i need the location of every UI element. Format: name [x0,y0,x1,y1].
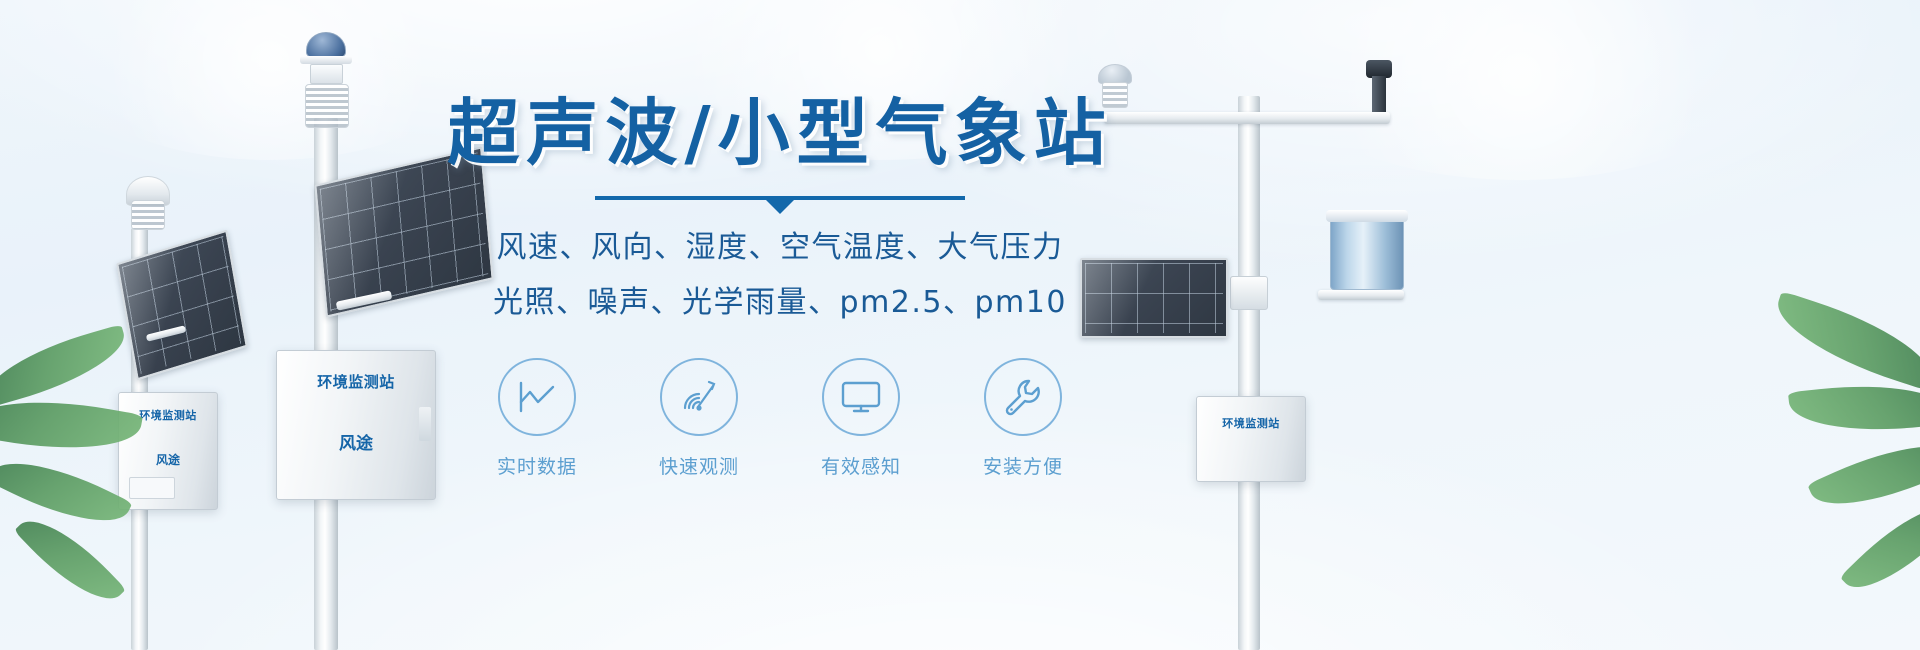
sensor-dome [306,32,346,58]
cross-arm [1104,112,1390,124]
page-title: 超声波/小型气象站 [430,96,1130,172]
mast-pole [1238,96,1260,650]
sensor-collar [300,56,352,64]
feature-item-easy-installation[interactable]: 安装方便 [953,358,1093,479]
feature-icon-circle [498,358,576,436]
optical-rain-gauge [1330,216,1404,290]
rain-gauge-rim [1326,210,1408,222]
cabinet-label-right: 环境监测站 [1197,415,1305,431]
cloud-decoration [60,0,480,160]
title-divider [595,196,965,200]
feature-label: 有效感知 [791,452,931,479]
feature-label: 安装方便 [953,452,1093,479]
feature-label: 实时数据 [467,452,607,479]
equipment-cabinet-left: 环境监测站 风途 [118,392,218,510]
chevron-down-icon [766,200,794,214]
equipment-cabinet-middle: 环境监测站 风途 [276,350,436,500]
leaf [1766,291,1920,391]
brand-mark-left: 风途 [119,451,217,468]
cloud-decoration [1280,0,1760,180]
cabinet-vent [129,477,175,499]
cross-arm-lower [1318,290,1404,300]
leaf [0,324,133,408]
feature-icon-circle [822,358,900,436]
louvered-screen [305,84,349,128]
equipment-cabinet-right: 环境监测站 [1196,396,1306,482]
feature-list: 实时数据 快速观测 [430,358,1130,479]
louvered-screen [131,200,165,230]
leaf [1807,423,1920,526]
feature-item-fast-observation[interactable]: 快速观测 [629,358,769,479]
subtitle-line-2: 光照、噪声、光学雨量、pm2.5、pm10 [430,277,1130,328]
leaf [1788,376,1920,440]
feature-item-realtime-data[interactable]: 实时数据 [467,358,607,479]
line-chart-icon [517,380,557,414]
monitor-icon [840,379,882,415]
junction-box [1230,276,1268,310]
sensor-body [310,64,343,84]
cabinet-label-middle: 环境监测站 [277,371,435,392]
sensor-dome [1098,64,1132,84]
product-banner: 环境监测站 风途 环境监测站 风途 [0,0,1920,650]
feature-label: 快速观测 [629,452,769,479]
feature-icon-circle [984,358,1062,436]
radar-signal-icon [679,378,719,416]
sensor-stem [1372,76,1386,112]
brand-mark-middle: 风途 [277,429,435,454]
wrench-icon [1003,377,1043,417]
feature-item-effective-sensing[interactable]: 有效感知 [791,358,931,479]
feature-icon-circle [660,358,738,436]
banner-content: 超声波/小型气象站 风速、风向、湿度、空气温度、大气压力 光照、噪声、光学雨量、… [430,96,1130,479]
subtitle-line-1: 风速、风向、湿度、空气温度、大气压力 [430,222,1130,273]
leaf [1840,487,1920,608]
